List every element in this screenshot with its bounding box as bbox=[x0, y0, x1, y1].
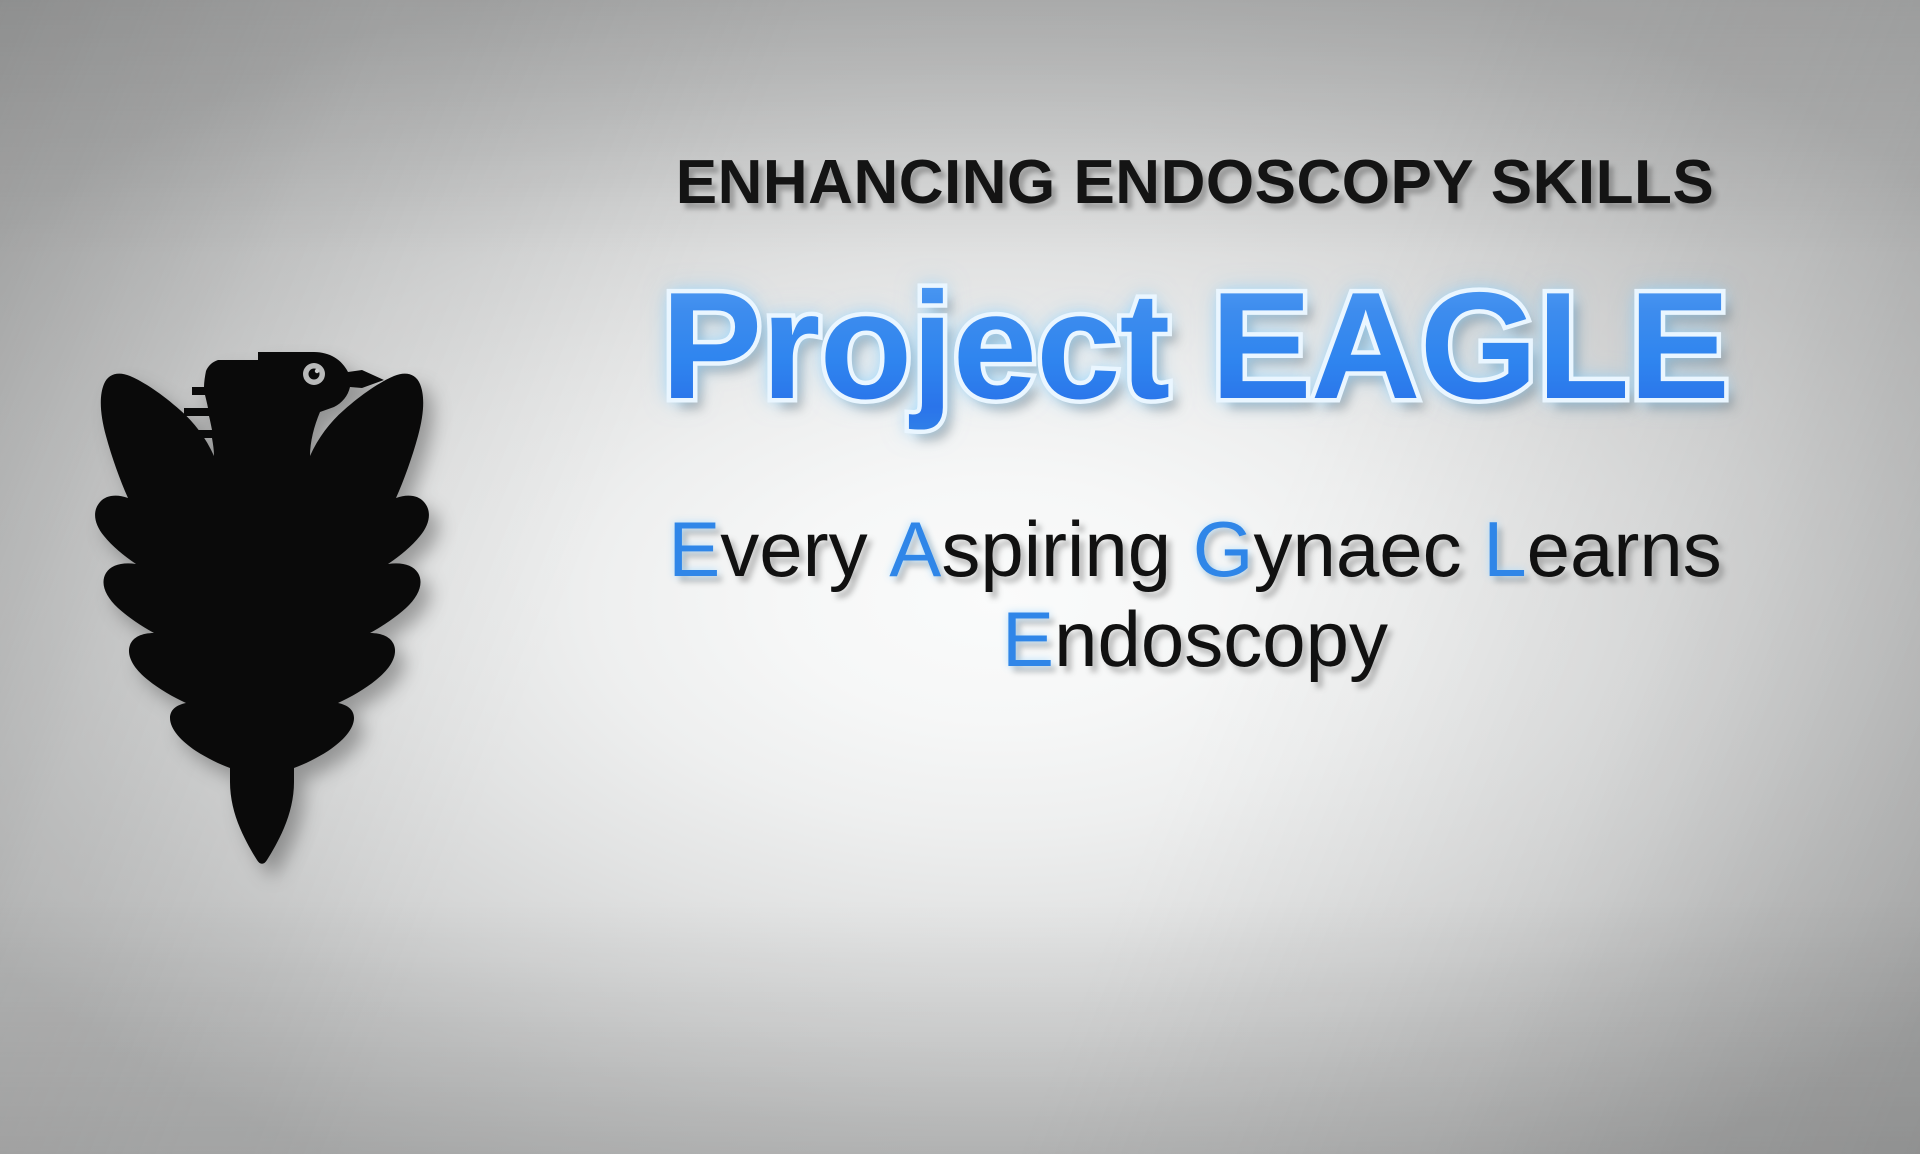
acronym-initial-l: L bbox=[1483, 505, 1526, 593]
acronym-initial-e2: E bbox=[1002, 595, 1054, 683]
acronym-rest-endoscopy: ndoscopy bbox=[1054, 595, 1388, 683]
acronym-line-1: Every Aspiring Gynaec Learns bbox=[668, 505, 1722, 593]
acronym-rest-gynaec: ynaec bbox=[1253, 505, 1461, 593]
acronym-initial-a: A bbox=[889, 505, 941, 593]
eagle-logo bbox=[62, 330, 462, 870]
acronym-expansion: Every Aspiring Gynaec Learns Endoscopy bbox=[530, 504, 1860, 685]
acronym-rest-learns: earns bbox=[1527, 505, 1722, 593]
heraldic-eagle-icon bbox=[62, 330, 462, 870]
acronym-line-2: Endoscopy bbox=[530, 594, 1860, 684]
project-title: Project EAGLE Project EAGLE bbox=[530, 270, 1860, 422]
acronym-rest-aspiring: spiring bbox=[941, 505, 1171, 593]
acronym-initial-g: G bbox=[1193, 505, 1254, 593]
project-title-fill: Project EAGLE bbox=[661, 261, 1729, 431]
title-card-slide: ENHANCING ENDOSCOPY SKILLS Project EAGLE… bbox=[0, 0, 1920, 1154]
text-block: ENHANCING ENDOSCOPY SKILLS Project EAGLE… bbox=[530, 150, 1860, 685]
acronym-initial-e1: E bbox=[668, 505, 720, 593]
tagline: ENHANCING ENDOSCOPY SKILLS bbox=[530, 150, 1860, 216]
acronym-rest-every: very bbox=[720, 505, 867, 593]
